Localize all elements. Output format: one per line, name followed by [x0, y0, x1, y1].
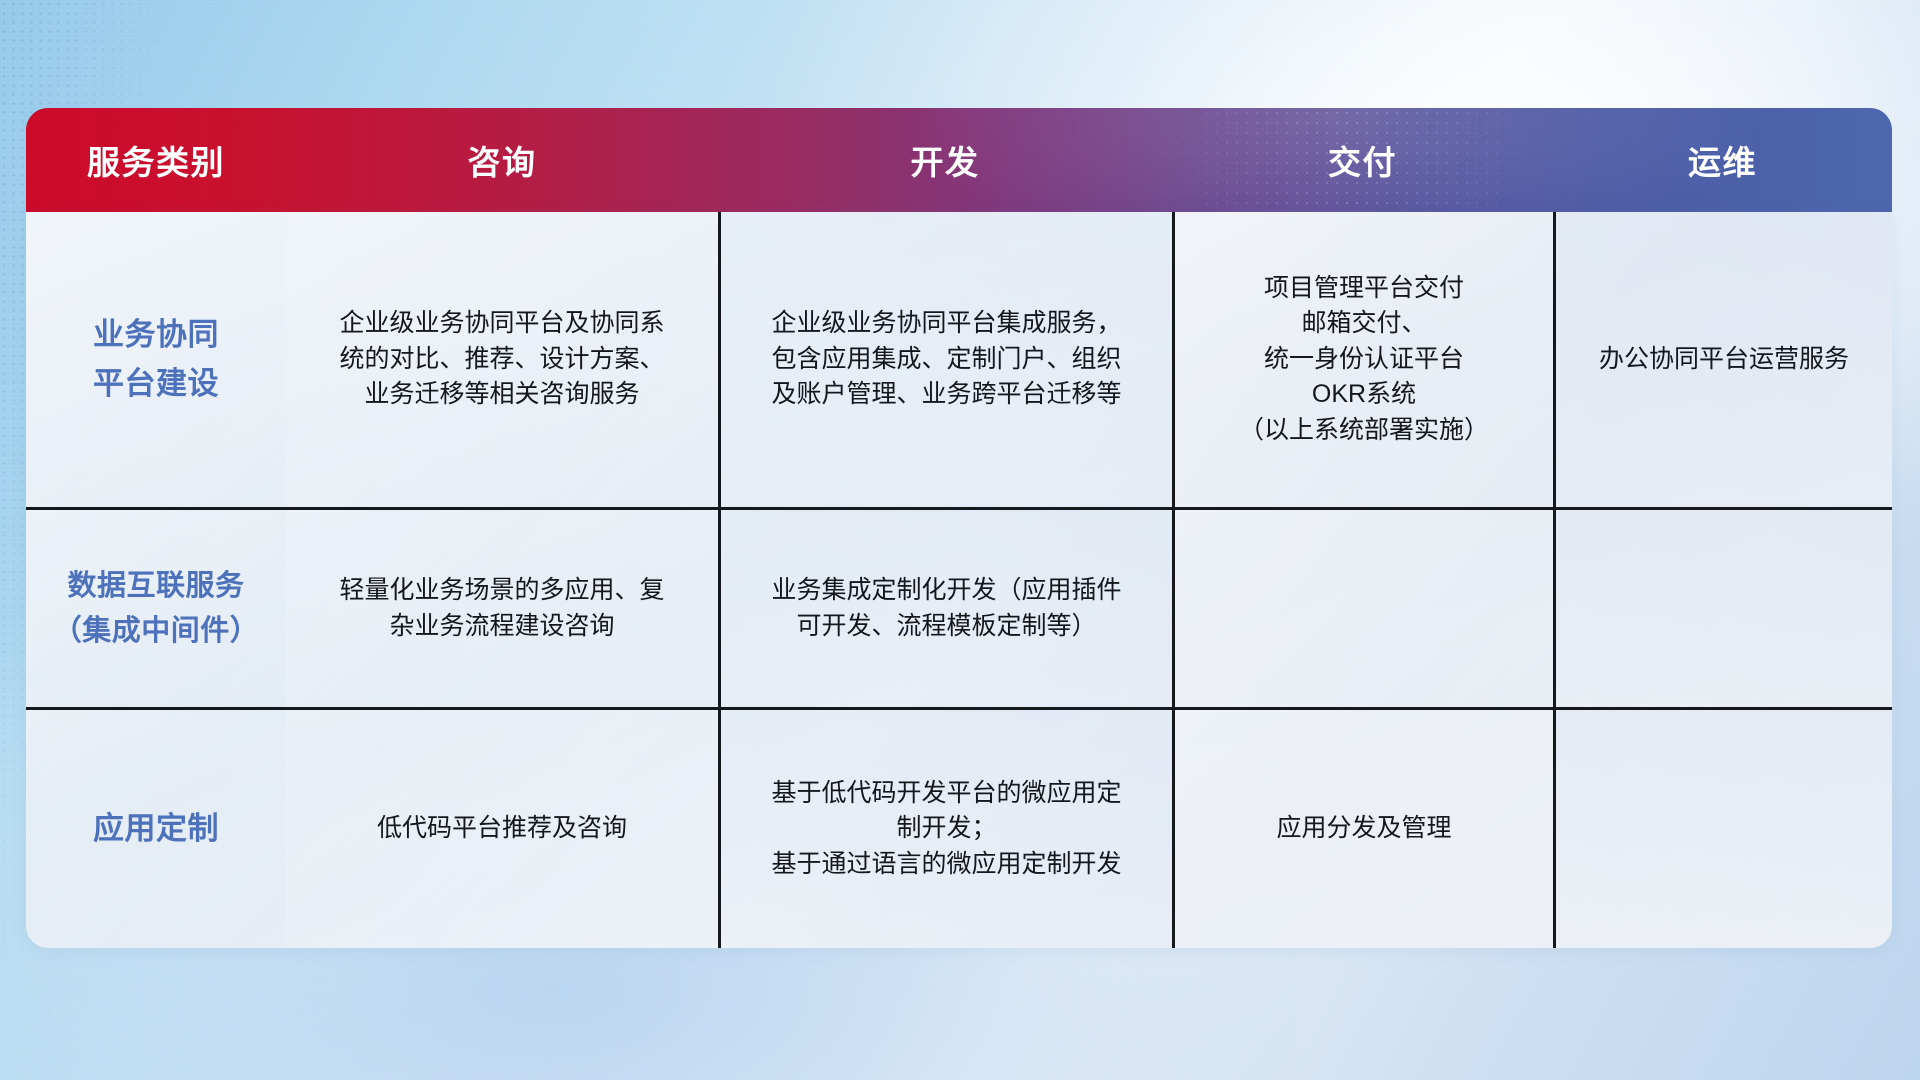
cell-development-text: 基于低代码开发平台的微应用定 制开发； 基于通过语言的微应用定制开发 [771, 776, 1121, 883]
cell-consulting: 低代码平台推荐及咨询 [286, 710, 718, 948]
cell-consulting-text: 低代码平台推荐及咨询 [377, 811, 627, 847]
cell-delivery: 项目管理平台交付 邮箱交付、 统一身份认证平台 OKR系统 （以上系统部署实施） [1172, 212, 1553, 507]
cell-development: 基于低代码开发平台的微应用定 制开发； 基于通过语言的微应用定制开发 [718, 710, 1172, 948]
cell-delivery: 应用分发及管理 [1172, 710, 1553, 948]
header-cell-category: 服务类别 [26, 108, 286, 212]
cell-development-text: 业务集成定制化开发（应用插件 可开发、流程模板定制等） [771, 573, 1121, 644]
cell-development-text: 企业级业务协同平台集成服务， 包含应用集成、定制门户、组织 及账户管理、业务跨平… [771, 306, 1121, 413]
cell-consulting-text: 企业级业务协同平台及协同系 统的对比、推荐、设计方案、 业务迁移等相关咨询服务 [339, 306, 664, 413]
header-cell-consulting: 咨询 [286, 108, 718, 212]
table-row: 数据互联服务 （集成中间件） 轻量化业务场景的多应用、复 杂业务流程建设咨询 业… [26, 507, 1892, 707]
table-row: 业务协同 平台建设 企业级业务协同平台及协同系 统的对比、推荐、设计方案、 业务… [26, 212, 1892, 507]
slide-canvas: 服务类别 咨询 开发 交付 运维 业务协同 平台建设 企业级业务协同平台及协同系… [0, 0, 1920, 1080]
header-cell-delivery: 交付 [1172, 108, 1553, 212]
cell-consulting: 企业级业务协同平台及协同系 统的对比、推荐、设计方案、 业务迁移等相关咨询服务 [286, 212, 718, 507]
header-cell-development: 开发 [718, 108, 1172, 212]
cell-delivery [1172, 510, 1553, 707]
cell-consulting: 轻量化业务场景的多应用、复 杂业务流程建设咨询 [286, 510, 718, 707]
row-category-label: 数据互联服务 （集成中间件） [26, 510, 286, 707]
table-header-row: 服务类别 咨询 开发 交付 运维 [26, 108, 1892, 212]
cell-consulting-text: 轻量化业务场景的多应用、复 杂业务流程建设咨询 [339, 573, 664, 644]
cell-operations-text: 办公协同平台运营服务 [1599, 342, 1849, 378]
cell-development: 业务集成定制化开发（应用插件 可开发、流程模板定制等） [718, 510, 1172, 707]
table-body: 业务协同 平台建设 企业级业务协同平台及协同系 统的对比、推荐、设计方案、 业务… [26, 212, 1892, 948]
cell-delivery-text: 项目管理平台交付 邮箱交付、 统一身份认证平台 OKR系统 （以上系统部署实施） [1239, 271, 1489, 449]
cell-delivery-text: 应用分发及管理 [1276, 811, 1451, 847]
row-category-text: 业务协同 平台建设 [93, 311, 219, 407]
cell-operations [1553, 710, 1892, 948]
table-row: 应用定制 低代码平台推荐及咨询 基于低代码开发平台的微应用定 制开发； 基于通过… [26, 707, 1892, 948]
header-cell-operations: 运维 [1553, 108, 1892, 212]
row-category-text: 数据互联服务 （集成中间件） [53, 564, 260, 654]
row-category-text: 应用定制 [93, 805, 219, 853]
cell-operations: 办公协同平台运营服务 [1553, 212, 1892, 507]
cell-operations [1553, 510, 1892, 707]
cell-development: 企业级业务协同平台集成服务， 包含应用集成、定制门户、组织 及账户管理、业务跨平… [718, 212, 1172, 507]
service-matrix-table: 服务类别 咨询 开发 交付 运维 业务协同 平台建设 企业级业务协同平台及协同系… [26, 108, 1892, 948]
row-category-label: 业务协同 平台建设 [26, 212, 286, 507]
row-category-label: 应用定制 [26, 710, 286, 948]
